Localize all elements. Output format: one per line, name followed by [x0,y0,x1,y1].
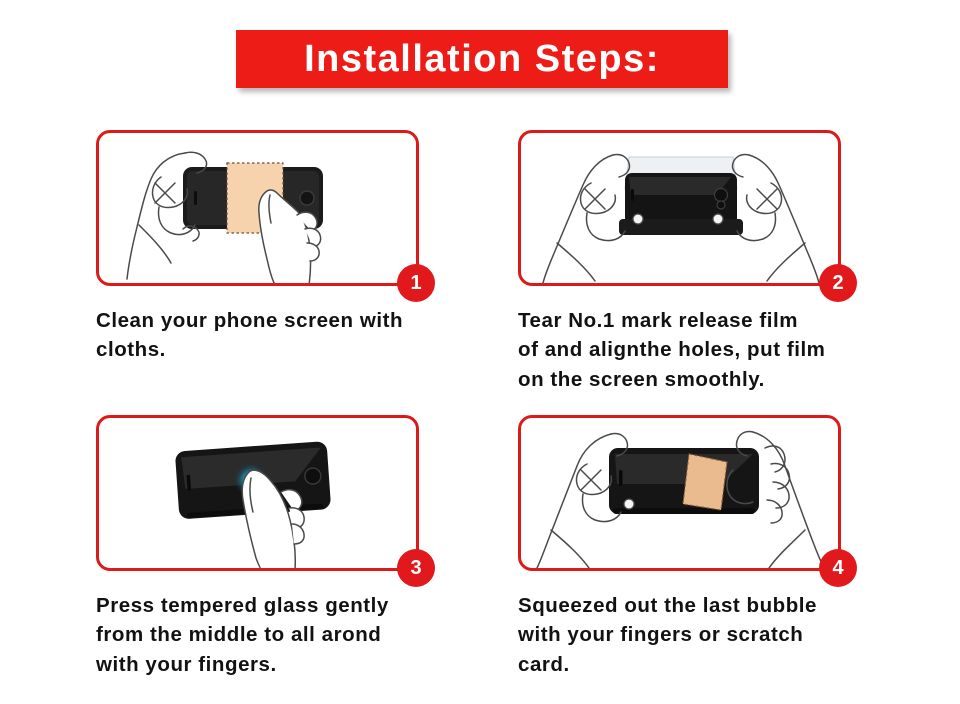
step-caption-2: Tear No.1 mark release film of and align… [518,306,863,394]
step-caption-4: Squeezed out the last bubble with your f… [518,591,863,679]
step-card-1: 1 Clean your phone screen with cloths. [96,130,419,365]
illustration-clean-screen [99,133,416,283]
step-illustration-panel-1: 1 [96,130,419,286]
installation-steps-banner: Installation Steps: [236,30,728,88]
page-title: Installation Steps: [304,40,660,78]
step-number-badge-4: 4 [819,549,857,587]
step-illustration-panel-4: 4 [518,415,841,571]
step-illustration-panel-2: 2 [518,130,841,286]
step-caption-3: Press tempered glass gently from the mid… [96,591,441,679]
installation-steps-grid: 1 Clean your phone screen with cloths. [0,130,960,690]
step-card-3: 3 Press tempered glass gently from the m… [96,415,419,679]
step-number-badge-2: 2 [819,264,857,302]
squeegee-cloth [683,454,727,510]
step-number-badge-1: 1 [397,264,435,302]
illustration-apply-film [521,133,838,283]
phone-horizontal [619,173,743,235]
right-hand [732,154,819,283]
illustration-squeeze-bubbles [521,418,838,568]
step-card-2: 2 Tear No.1 mark release film of and ali… [518,130,841,394]
illustration-press-glass [99,418,416,568]
step-caption-1: Clean your phone screen with cloths. [96,306,441,365]
step-card-4: 4 Squeezed out the last bubble with your… [518,415,841,679]
step-number-badge-3: 3 [397,549,435,587]
left-hand [543,154,630,283]
step-illustration-panel-3: 3 [96,415,419,571]
